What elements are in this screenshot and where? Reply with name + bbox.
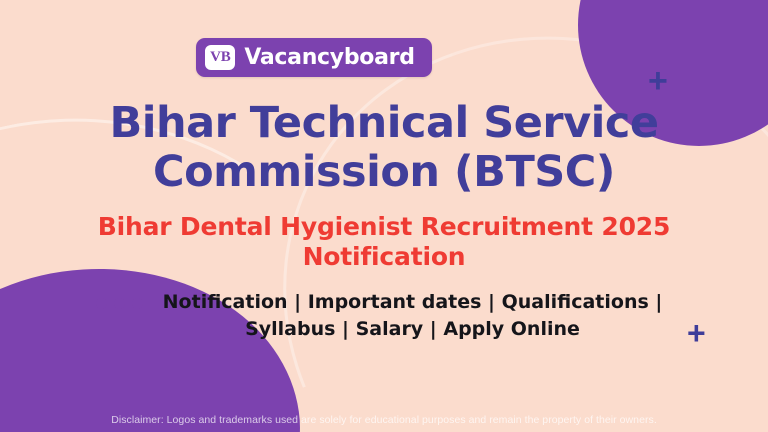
page-title: Bihar Technical Service Commission (BTSC… xyxy=(34,99,734,196)
feature-list-text: Notification | Important dates | Qualifi… xyxy=(153,289,673,343)
vb-monogram-icon: VB xyxy=(205,45,235,70)
bullet-dots-icon xyxy=(96,289,143,309)
bullet-dot-icon xyxy=(114,298,125,309)
vacancyboard-logo[interactable]: VB Vacancyboard xyxy=(196,38,431,77)
plus-icon-top-right: + xyxy=(648,64,668,98)
page-subtitle: Bihar Dental Hygienist Recruitment 2025 … xyxy=(34,212,734,271)
disclaimer-text: Disclaimer: Logos and trademarks used ar… xyxy=(0,414,768,427)
promo-banner: VB Vacancyboard Bihar Technical Service … xyxy=(0,0,768,432)
bullet-dot-icon xyxy=(132,298,143,309)
feature-list-row: Notification | Important dates | Qualifi… xyxy=(34,289,734,343)
vb-monogram-text: VB xyxy=(210,50,230,65)
brand-wordmark: Vacancyboard xyxy=(244,47,414,69)
bullet-dot-icon xyxy=(96,298,107,309)
plus-icon-middle-right: + xyxy=(687,317,706,349)
